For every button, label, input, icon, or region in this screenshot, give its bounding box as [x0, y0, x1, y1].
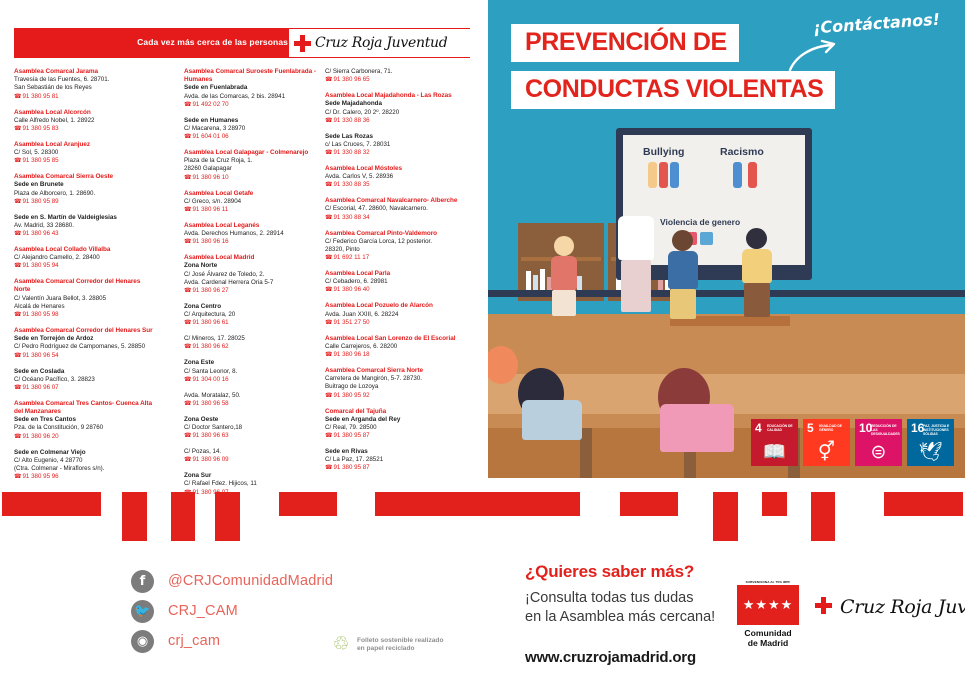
- assembly-phone[interactable]: ☎91 330 88 36: [325, 117, 468, 125]
- phone-icon: ☎: [184, 134, 191, 140]
- sdg-number: 4: [755, 423, 762, 434]
- assembly-address: C/ Océano Pacífico, 3. 28823: [14, 376, 157, 384]
- assembly-title: Asamblea Local Alcorcón: [14, 109, 157, 117]
- assembly-subtitle: Zona Oeste: [184, 416, 327, 424]
- phone-icon: ☎: [325, 433, 332, 439]
- assembly-address: Travesía de las Fuentes, 6. 28701.: [14, 76, 157, 84]
- assembly-phone[interactable]: ☎91 304 00 16: [184, 376, 327, 384]
- whiteboard-label-violencia: Violencia de genero: [660, 217, 740, 227]
- eco-line-1: Folleto sostenible realizado: [357, 637, 443, 645]
- assembly-phone[interactable]: ☎91 380 96 10: [184, 174, 327, 182]
- assembly-entry: Sede en Colmenar ViejoC/ Alto Eugenio, 4…: [14, 449, 157, 482]
- phone-icon: ☎: [184, 288, 191, 294]
- assembly-phone[interactable]: ☎91 380 96 65: [325, 76, 468, 84]
- assembly-subtitle: Zona Centro: [184, 303, 327, 311]
- assembly-entry: Asamblea Local AranjuezC/ Sol, 5. 28300☎…: [14, 141, 157, 166]
- assembly-title: Asamblea Local Galapagar - Colmenarejo: [184, 149, 327, 157]
- assembly-phone[interactable]: ☎91 380 96 40: [325, 286, 468, 294]
- board-figure-1: [648, 162, 657, 188]
- phone-icon: ☎: [184, 457, 191, 463]
- band-block: [171, 492, 195, 541]
- assembly-entry: Asamblea Comarcal Sierra OesteSede en Br…: [14, 173, 157, 206]
- assembly-address: Plaza de Alborcero, 1. 28690.: [14, 190, 157, 198]
- comunidad-de-madrid-logo: SUBVENCIONA AL 75% IRPF ★★★★ Comunidad d…: [733, 580, 803, 654]
- band-block: [215, 492, 240, 541]
- assembly-phone[interactable]: ☎91 380 95 94: [14, 262, 157, 270]
- assembly-address: C/ Pozas, 14.: [184, 448, 327, 456]
- assembly-subtitle: Sede en Brunete: [14, 181, 157, 189]
- sdg-label: IGUALDAD DE GÉNERO: [819, 424, 848, 432]
- phone-icon: ☎: [14, 263, 21, 269]
- phone-icon: ☎: [184, 433, 191, 439]
- assembly-entry: Comarcal del TajuñaSede en Arganda del R…: [325, 408, 468, 441]
- assembly-address: C/ Macarena, 3 28970: [184, 125, 327, 133]
- assembly-subtitle: Sede en Colmenar Viejo: [14, 449, 157, 457]
- assembly-address: C/ José Álvarez de Toledo, 2.: [184, 271, 327, 279]
- assembly-subtitle: Sede en Humanes: [184, 117, 327, 125]
- board-chat-bubble-2: [700, 232, 713, 245]
- phone-icon: ☎: [184, 401, 191, 407]
- audience-student-body-1: [522, 400, 582, 440]
- assembly-entry: Asamblea Comarcal Corredor del Henares N…: [14, 278, 157, 319]
- assembly-phone[interactable]: ☎91 604 01 06: [184, 133, 327, 141]
- phone-icon: ☎: [325, 352, 332, 358]
- assembly-address: Buitrago de Lozoya: [325, 383, 468, 391]
- phone-icon: ☎: [184, 102, 191, 108]
- assembly-entry: Asamblea Local LeganésAvda. Derechos Hum…: [184, 222, 327, 247]
- assembly-address: Avda. Carlos V, 5. 28936: [325, 173, 468, 181]
- social-row[interactable]: ◉crj_cam: [131, 626, 333, 656]
- assembly-entry: Zona OesteC/ Doctor Santero,18☎91 380 96…: [184, 416, 327, 441]
- assembly-phone[interactable]: ☎91 380 95 85: [14, 157, 157, 165]
- poster-title-line1-box: PREVENCIÓN DE: [511, 24, 739, 62]
- assembly-entry: Asamblea Comarcal Tres Cantos- Cuenca Al…: [14, 400, 157, 441]
- footer-subtext-1: ¡Consulta todas tus dudas: [525, 589, 715, 608]
- assembly-phone[interactable]: ☎91 380 96 27: [184, 287, 327, 295]
- assembly-phone[interactable]: ☎91 380 95 81: [14, 93, 157, 101]
- assembly-phone[interactable]: ☎91 380 95 89: [14, 198, 157, 206]
- assembly-title: Asamblea Local Móstoles: [325, 165, 468, 173]
- assembly-title: Asamblea Local Getafe: [184, 190, 327, 198]
- assembly-phone[interactable]: ☎91 380 96 09: [184, 456, 327, 464]
- assembly-address: C/ Valentín Juara Bellot, 3. 28805: [14, 295, 157, 303]
- phone-icon: ☎: [184, 344, 191, 350]
- assembly-address: Avda. Juan XXIII, 6. 28224: [325, 311, 468, 319]
- assembly-address: Calle Alfredo Nobel, 1. 28922: [14, 117, 157, 125]
- band-block: [279, 492, 337, 516]
- decorative-red-band: [0, 480, 965, 552]
- phone-icon: ☎: [14, 353, 21, 359]
- phone-icon: ☎: [184, 320, 191, 326]
- phone-icon: ☎: [325, 118, 332, 124]
- assembly-phone[interactable]: ☎91 380 96 63: [184, 432, 327, 440]
- sdg-label: REDUCCIÓN DE LAS DESIGUALDADES: [871, 424, 900, 437]
- assembly-entry: Asamblea Comarcal Corredor del Henares S…: [14, 327, 157, 360]
- sdg-label: EDUCACIÓN DE CALIDAD: [767, 424, 796, 432]
- assembly-entry: Sede en CosladaC/ Océano Pacífico, 3. 28…: [14, 368, 157, 393]
- assembly-subtitle: Zona Este: [184, 359, 327, 367]
- assembly-phone[interactable]: ☎91 380 95 92: [325, 392, 468, 400]
- assembly-subtitle: Sede en Arganda del Rey: [325, 416, 468, 424]
- assembly-title: Asamblea Comarcal Jarama: [14, 68, 157, 76]
- phone-icon: ☎: [325, 150, 332, 156]
- assembly-address: C/ Pedro Rodríguez de Campomanes, 5. 288…: [14, 343, 157, 351]
- phone-icon: ☎: [325, 393, 332, 399]
- assembly-title: Asamblea Comarcal Sierra Norte: [325, 367, 468, 375]
- phone-icon: ☎: [14, 231, 21, 237]
- sdg-badge-row: 4EDUCACIÓN DE CALIDAD📖5IGUALDAD DE GÉNER…: [751, 419, 954, 466]
- board-figure-3: [670, 162, 679, 188]
- assembly-entry: Sede en S. Martín de ValdeiglesiasAv. Ma…: [14, 214, 157, 239]
- assembly-phone[interactable]: ☎91 380 96 61: [184, 319, 327, 327]
- assembly-phone[interactable]: ☎91 380 96 43: [14, 230, 157, 238]
- assembly-subtitle: Sede en Torrejón de Ardoz: [14, 335, 157, 343]
- assembly-entry: Sede en HumanesC/ Macarena, 3 28970☎91 6…: [184, 117, 327, 142]
- assembly-address: C/ Alto Eugenio, 4 28770: [14, 457, 157, 465]
- assembly-title: Asamblea Comarcal Navalcarnero- Alberche: [325, 197, 468, 205]
- assembly-entry: C/ Sierra Carbonera, 71.☎91 380 96 65: [325, 68, 468, 85]
- footer-website[interactable]: www.cruzrojamadrid.org: [525, 649, 715, 666]
- assembly-phone[interactable]: ☎91 330 88 32: [325, 149, 468, 157]
- assembly-address: c/ Las Cruces, 7. 28031: [325, 141, 468, 149]
- assembly-title: Asamblea Comarcal Corredor del Henares N…: [14, 278, 157, 294]
- assembly-title: Asamblea Local Madrid: [184, 254, 327, 262]
- audience-student-1: [488, 346, 518, 384]
- board-figure-4: [733, 162, 742, 188]
- social-links: f@CRJComunidadMadrid🐦CRJ_CAM◉crj_cam: [131, 566, 333, 656]
- assembly-address: C/ La Paz, 17. 28521: [325, 456, 468, 464]
- instagram-icon[interactable]: ◉: [131, 630, 154, 653]
- phone-icon: ☎: [325, 182, 332, 188]
- facebook-icon[interactable]: f: [131, 570, 154, 593]
- student-presenter-3: [746, 228, 772, 317]
- assembly-entry: Zona EsteC/ Santa Leonor, 8.☎91 304 00 1…: [184, 359, 327, 384]
- phone-icon: ☎: [325, 465, 332, 471]
- assembly-entry: Sede Las Rozasc/ Las Cruces, 7. 28031☎91…: [325, 133, 468, 158]
- brochure-page: Cada vez más cerca de las personas Cruz …: [0, 0, 965, 686]
- assembly-address: 28260 Galapagar: [184, 165, 327, 173]
- phone-icon: ☎: [325, 215, 332, 221]
- assembly-address: C/ Escorial, 47. 28600, Navalcarnero.: [325, 205, 468, 213]
- assembly-entry: Asamblea Local ParlaC/ Cebadero, 6. 2898…: [325, 270, 468, 295]
- header-tagline: Cada vez más cerca de las personas: [137, 37, 288, 47]
- assembly-address: Calle Carrejeros, 6. 28200: [325, 343, 468, 351]
- assembly-subtitle: Sede en Coslada: [14, 368, 157, 376]
- assembly-title: Asamblea Local Majadahonda - Las Rozas: [325, 92, 468, 100]
- assembly-phone[interactable]: ☎91 380 96 16: [184, 238, 327, 246]
- teacher-figure: [618, 216, 654, 312]
- assembly-address: Alcalá de Henares: [14, 303, 157, 311]
- assembly-address: Carretera de Mangirón, 5-7. 28730.: [325, 375, 468, 383]
- assembly-address: C/ Federico García Lorca, 12 posterior.: [325, 238, 468, 246]
- assembly-subtitle: Sede Las Rozas: [325, 133, 468, 141]
- assembly-address: C/ Alejandro Camello, 2. 28400: [14, 254, 157, 262]
- poster-title-line2-box: CONDUCTAS VIOLENTAS: [511, 71, 835, 109]
- red-cross-icon: [815, 597, 835, 617]
- assembly-entry: Zona CentroC/ Arquitectura, 20☎91 380 96…: [184, 303, 327, 328]
- footer-crj-logo: Cruz Roja Juventud: [815, 596, 965, 618]
- assembly-title: Asamblea Comarcal Corredor del Henares S…: [14, 327, 157, 335]
- assembly-entry: Asamblea Comarcal Navalcarnero- Alberche…: [325, 197, 468, 222]
- assembly-phone[interactable]: ☎91 380 95 87: [325, 464, 468, 472]
- assembly-entry: Asamblea Comarcal Suroeste Fuenlabrada -…: [184, 68, 327, 109]
- phone-icon: ☎: [14, 158, 21, 164]
- assembly-subtitle: Sede en Rivas: [325, 448, 468, 456]
- sdg-label: PAZ, JUSTICIA E INSTITUCIONES SÓLIDAS: [923, 424, 952, 437]
- assembly-address: C/ Greco, s/n. 28904: [184, 198, 327, 206]
- assembly-address: C/ Mineros, 17. 28025: [184, 335, 327, 343]
- assembly-address: 28320, Pinto: [325, 246, 468, 254]
- header-logo: Cruz Roja Juventud: [289, 29, 475, 57]
- header-logo-text: Cruz Roja Juventud: [315, 35, 447, 51]
- phone-icon: ☎: [184, 377, 191, 383]
- assembly-address: San Sebastián de los Reyes: [14, 84, 157, 92]
- assembly-entry: Asamblea Comarcal Sierra NorteCarretera …: [325, 367, 468, 400]
- assembly-subtitle: Sede en Fuenlabrada: [184, 84, 327, 92]
- whiteboard-label-racismo: Racismo: [720, 146, 764, 158]
- assembly-directory: Asamblea Comarcal JaramaTravesía de las …: [14, 68, 476, 473]
- twitter-icon[interactable]: 🐦: [131, 600, 154, 623]
- directory-column-2: Asamblea Comarcal Suroeste Fuenlabrada -…: [184, 68, 327, 504]
- footer: f@CRJComunidadMadrid🐦CRJ_CAM◉crj_cam ♲ F…: [0, 552, 965, 686]
- assembly-entry: Asamblea Local Galapagar - ColmenarejoPl…: [184, 149, 327, 182]
- assembly-phone[interactable]: ☎91 380 96 07: [14, 384, 157, 392]
- phone-icon: ☎: [14, 126, 21, 132]
- sdg-badge-16: 16PAZ, JUSTICIA E INSTITUCIONES SÓLIDAS🕊: [907, 419, 954, 466]
- phone-icon: ☎: [325, 77, 332, 83]
- band-block: [122, 492, 147, 541]
- student-presenter-2: [672, 230, 698, 319]
- poster-title-line1: PREVENCIÓN DE: [525, 28, 727, 56]
- assembly-address: Avda. de las Comarcas, 2 bis. 28941: [184, 93, 327, 101]
- assembly-phone[interactable]: ☎91 380 96 11: [184, 206, 327, 214]
- sdg-badge-10: 10REDUCCIÓN DE LAS DESIGUALDADES⊜: [855, 419, 902, 466]
- assembly-entry: Asamblea Local Majadahonda - Las RozasSe…: [325, 92, 468, 125]
- assembly-entry: Asamblea Comarcal Pinto-ValdemoroC/ Fede…: [325, 230, 468, 263]
- assembly-title: Asamblea Comarcal Suroeste Fuenlabrada -…: [184, 68, 327, 84]
- band-block: [884, 492, 963, 516]
- phone-icon: ☎: [184, 175, 191, 181]
- phone-icon: ☎: [14, 434, 21, 440]
- band-block: [713, 492, 738, 541]
- assembly-phone[interactable]: ☎91 380 95 83: [14, 125, 157, 133]
- assembly-entry: Asamblea Local Pozuelo de AlarcónAvda. J…: [325, 302, 468, 327]
- sdg-badge-5: 5IGUALDAD DE GÉNERO⚥: [803, 419, 850, 466]
- social-handle[interactable]: CRJ_CAM: [168, 603, 238, 619]
- phone-icon: ☎: [325, 287, 332, 293]
- assembly-title: Asamblea Local Collado Villalba: [14, 246, 157, 254]
- student-presenter-1: [554, 236, 577, 316]
- social-row[interactable]: f@CRJComunidadMadrid: [131, 566, 333, 596]
- directory-column-3: C/ Sierra Carbonera, 71.☎91 380 96 65Asa…: [325, 68, 468, 480]
- band-block: [811, 492, 835, 541]
- assembly-title: Asamblea Local Leganés: [184, 222, 327, 230]
- phone-icon: ☎: [325, 255, 332, 261]
- assembly-address: C/ Santa Leonor, 8.: [184, 368, 327, 376]
- assembly-phone[interactable]: ☎91 380 96 18: [325, 351, 468, 359]
- assembly-entry: Asamblea Local MóstolesAvda. Carlos V, 5…: [325, 165, 468, 190]
- assembly-entry: Sede en RivasC/ La Paz, 17. 28521☎91 380…: [325, 448, 468, 473]
- assembly-subtitle: Sede en S. Martín de Valdeiglesias: [14, 214, 157, 222]
- assembly-title: Asamblea Comarcal Pinto-Valdemoro: [325, 230, 468, 238]
- assembly-entry: C/ Mineros, 17. 28025☎91 380 96 62: [184, 335, 327, 352]
- assembly-title: Asamblea Local San Lorenzo de El Escoria…: [325, 335, 468, 343]
- assembly-title: Asamblea Local Pozuelo de Alarcón: [325, 302, 468, 310]
- band-block: [2, 492, 101, 516]
- assembly-address: (Ctra. Colmenar - Miraflores s/n).: [14, 465, 157, 473]
- sdg-number: 5: [807, 423, 814, 434]
- cm-name-1: Comunidad: [733, 628, 803, 638]
- assembly-phone[interactable]: ☎91 380 96 20: [14, 433, 157, 441]
- poster-title-line2: CONDUCTAS VIOLENTAS: [525, 75, 823, 103]
- curved-arrow-icon: [788, 38, 840, 72]
- assembly-address: Avda. Cardenal Herrera Oria 5-7: [184, 279, 327, 287]
- phone-icon: ☎: [14, 199, 21, 205]
- board-figure-5: [748, 162, 757, 188]
- contact-label: ¡Contáctanos!: [812, 10, 940, 38]
- footer-question: ¿Quieres saber más?: [525, 562, 715, 582]
- assembly-subtitle: Sede en Tres Cantos: [14, 416, 157, 424]
- phone-icon: ☎: [14, 312, 21, 318]
- band-block: [762, 492, 787, 516]
- phone-icon: ☎: [184, 239, 191, 245]
- assembly-phone[interactable]: ☎91 380 95 87: [325, 432, 468, 440]
- social-handle[interactable]: crj_cam: [168, 633, 220, 649]
- assembly-title: Comarcal del Tajuña: [325, 408, 468, 416]
- eco-note: ♲ Folleto sostenible realizado en papel …: [330, 634, 443, 656]
- phone-icon: ☎: [14, 385, 21, 391]
- assembly-address: Avda. Moratalaz, 50.: [184, 392, 327, 400]
- sdg-badge-4: 4EDUCACIÓN DE CALIDAD📖: [751, 419, 798, 466]
- assembly-title: Asamblea Local Aranjuez: [14, 141, 157, 149]
- assembly-entry: Asamblea Comarcal JaramaTravesía de las …: [14, 68, 157, 101]
- assembly-entry: Asamblea Local AlcorcónCalle Alfredo Nob…: [14, 109, 157, 134]
- directory-column-1: Asamblea Comarcal JaramaTravesía de las …: [14, 68, 157, 489]
- cm-stars: ★★★★: [737, 585, 799, 625]
- assembly-address: C/ Doctor Santero,18: [184, 424, 327, 432]
- footer-crj-logo-text: Cruz Roja Juventud: [840, 596, 965, 618]
- assembly-address: C/ Arquitectura, 20: [184, 311, 327, 319]
- assembly-phone[interactable]: ☎91 692 11 17: [325, 254, 468, 262]
- assembly-entry: C/ Pozas, 14.☎91 380 96 09: [184, 448, 327, 465]
- whiteboard-label-bullying: Bullying: [643, 146, 684, 158]
- assembly-phone[interactable]: ☎91 380 96 54: [14, 352, 157, 360]
- assembly-address: C/ Real, 79. 28500: [325, 424, 468, 432]
- assembly-subtitle: Sede Majadahonda: [325, 100, 468, 108]
- recycle-icon: ♲: [330, 634, 352, 656]
- assembly-address: C/ Sol, 5. 28300: [14, 149, 157, 157]
- assembly-entry: Asamblea Local GetafeC/ Greco, s/n. 2890…: [184, 190, 327, 215]
- assembly-phone[interactable]: ☎91 380 96 62: [184, 343, 327, 351]
- assembly-entry: Avda. Moratalaz, 50.☎91 380 96 58: [184, 392, 327, 409]
- assembly-entry: Asamblea Local Collado VillalbaC/ Alejan…: [14, 246, 157, 271]
- assembly-title: Asamblea Local Parla: [325, 270, 468, 278]
- assembly-phone[interactable]: ☎91 492 02 70: [184, 101, 327, 109]
- assembly-phone[interactable]: ☎91 351 27 50: [325, 319, 468, 327]
- red-cross-icon: [294, 35, 311, 52]
- cm-subvencion-text: SUBVENCIONA AL 75% IRPF: [733, 580, 803, 584]
- assembly-address: Pza. de la Constitución, 9 28760: [14, 424, 157, 432]
- assembly-entry: Asamblea Local MadridZona NorteC/ José Á…: [184, 254, 327, 295]
- social-handle[interactable]: @CRJComunidadMadrid: [168, 573, 333, 589]
- assembly-address: C/ Cebadero, 6. 28981: [325, 278, 468, 286]
- assembly-phone[interactable]: ☎91 330 88 34: [325, 214, 468, 222]
- sdg-glyph-icon: 🕊: [907, 443, 954, 462]
- poster-panel: PREVENCIÓN DE CONDUCTAS VIOLENTAS ¡Contá…: [488, 0, 965, 478]
- assembly-title: Asamblea Comarcal Tres Cantos- Cuenca Al…: [14, 400, 157, 416]
- assembly-title: Asamblea Comarcal Sierra Oeste: [14, 173, 157, 181]
- cm-name-2: de Madrid: [733, 638, 803, 648]
- band-block: [480, 492, 580, 516]
- phone-icon: ☎: [14, 94, 21, 100]
- footer-cta: ¿Quieres saber más? ¡Consulta todas tus …: [525, 562, 715, 666]
- footer-subtext-2: en la Asamblea más cercana!: [525, 608, 715, 627]
- assembly-phone[interactable]: ☎91 330 88 35: [325, 181, 468, 189]
- eco-line-2: en papel reciclado: [357, 645, 443, 653]
- sdg-glyph-icon: ⊜: [855, 443, 902, 462]
- assembly-entry: Asamblea Local San Lorenzo de El Escoria…: [325, 335, 468, 360]
- assembly-address: C/ Sierra Carbonera, 71.: [325, 68, 468, 76]
- assembly-address: C/ Dr. Calero, 20 2º. 28220: [325, 109, 468, 117]
- sdg-glyph-icon: ⚥: [803, 443, 850, 462]
- audience-student-body-2: [660, 404, 734, 452]
- assembly-phone[interactable]: ☎91 380 95 98: [14, 311, 157, 319]
- assembly-subtitle: Zona Norte: [184, 262, 327, 270]
- assembly-address: Plaza de la Cruz Roja, 1.: [184, 157, 327, 165]
- sdg-glyph-icon: 📖: [751, 443, 798, 462]
- band-block: [375, 492, 481, 516]
- directory-panel: Cada vez más cerca de las personas Cruz …: [0, 0, 488, 480]
- phone-icon: ☎: [184, 207, 191, 213]
- assembly-address: Av. Madrid, 33 28680.: [14, 222, 157, 230]
- phone-icon: ☎: [325, 320, 332, 326]
- board-figure-2: [659, 162, 668, 188]
- assembly-phone[interactable]: ☎91 380 96 58: [184, 400, 327, 408]
- band-block: [620, 492, 678, 516]
- social-row[interactable]: 🐦CRJ_CAM: [131, 596, 333, 626]
- assembly-address: Avda. Derechos Humanos, 2. 28914: [184, 230, 327, 238]
